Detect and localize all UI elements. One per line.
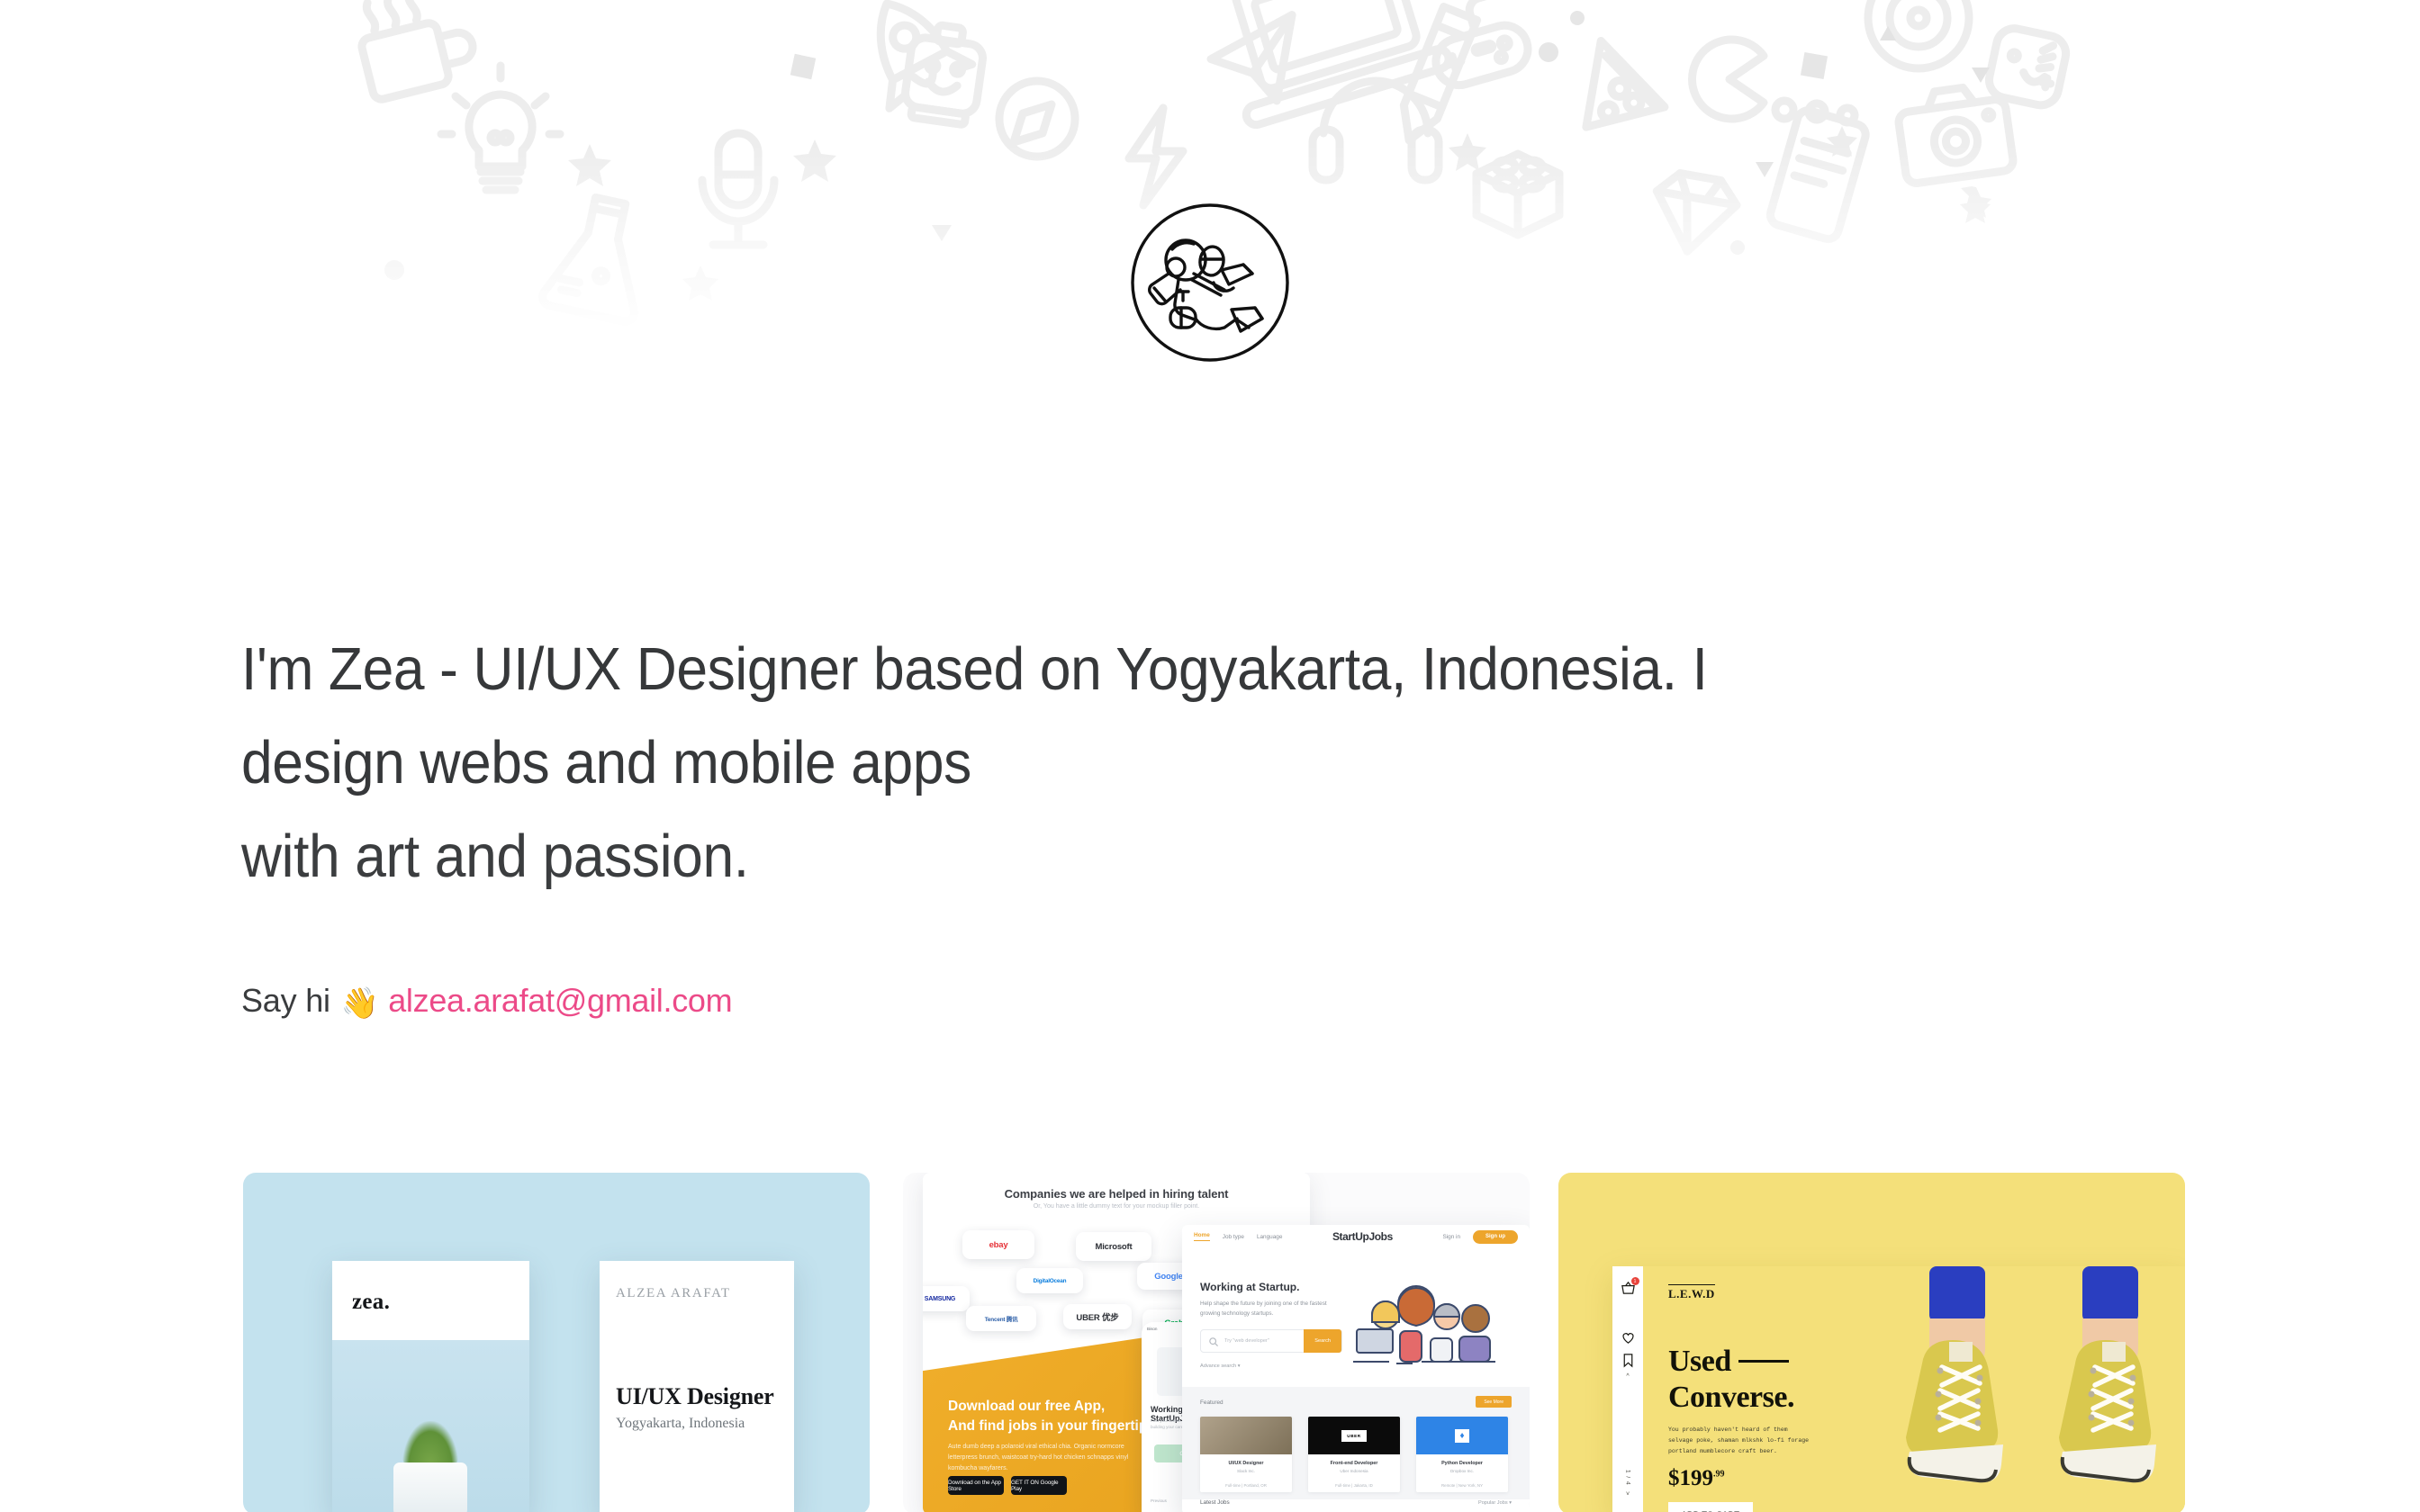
partner-logo-tencent: Tencent 腾讯 [966,1306,1036,1331]
laptop-icon [1210,0,1451,127]
promo-title-line-2: And find jobs in your fingertips! [948,1418,1160,1434]
product-title-line-1: Used [1668,1345,1731,1378]
job-thumbnail-uber: UBER [1308,1417,1400,1454]
price-main: $199 [1668,1466,1713,1490]
phone-carrier: Bison [1147,1327,1158,1333]
job-card[interactable]: UI/UX Designer Slack Inc. Full-time | Po… [1200,1417,1292,1492]
site-hero-body: Help shape the future by joining one of … [1200,1299,1344,1318]
astronaut-circle-logo[interactable] [1129,202,1291,364]
app-store-badge[interactable]: Download on the App Store [948,1476,1004,1495]
team-illustration [1344,1275,1515,1370]
job-card[interactable]: ♦ Python Developer Dropbox Inc. Remote |… [1416,1417,1508,1492]
square-icon [790,52,1828,79]
job-title: Front-end Developer [1308,1461,1400,1466]
partner-logo-microsoft: Microsoft [1076,1232,1151,1261]
work-card-startupjobs[interactable]: Companies we are helped in hiring talent… [903,1173,1530,1512]
triangle-icon [932,26,1990,241]
job-thumbnail-dropbox: ♦ [1416,1417,1508,1454]
see-more-button[interactable]: See More [1476,1396,1512,1408]
partners-title: Companies we are helped in hiring talent [923,1187,1310,1201]
promo-body: Aute dumb deep a polaroid viral ethical … [948,1442,1142,1474]
compass-icon [999,81,1075,157]
title-dash [1738,1360,1789,1363]
headline-line-2: design webs and mobile apps [241,716,2000,810]
plant-photo [332,1340,529,1512]
headline-line-1: I'm Zea - UI/UX Designer based on Yogyak… [241,623,2000,716]
popular-jobs-label: Popular Jobs [1478,1500,1508,1506]
side-rail: 1 ^ 1 / 4 ˅ [1612,1266,1643,1512]
featured-jobs-section: Featured See More UI/UX Designer Slack I… [1182,1387,1530,1499]
job-company: Uber Indonesia [1308,1469,1400,1473]
shop-brand: L.E.W.D [1668,1284,1715,1301]
product-title-line-2: Converse. [1668,1381,1794,1414]
nav-item-job-type[interactable]: Job type [1223,1234,1244,1240]
pagination-indicator: 1 / 4 [1625,1470,1631,1486]
promo-title-line-1: Download our free App, [948,1399,1105,1414]
plant-pot [393,1462,467,1512]
dot-icon [384,11,1745,280]
partner-logo-samsung: SAMSUNG [923,1286,970,1311]
contact-line: Say hi 👋 alzea.arafat@gmail.com [241,981,732,1021]
bookmark-icon[interactable] [1621,1353,1636,1368]
chevron-down-icon: ▾ [1238,1363,1241,1369]
work-card-personal-branding[interactable]: zea. ALZEA ARAFAT UI/UX Designer Yogyaka… [243,1173,870,1512]
site-nav: Home Job type Language StartUpJobs Sign … [1182,1225,1530,1248]
say-hi-label: Say hi [241,981,330,1021]
rocket-icon [845,0,972,108]
page-title: I'm Zea - UI/UX Designer based on Yogyak… [241,623,2000,904]
lewd-product-page: 1 ^ 1 / 4 ˅ L.E [1612,1266,2185,1512]
pencil-icon [1393,6,1477,147]
popular-jobs-dropdown[interactable]: Popular Jobs ▾ [1478,1500,1512,1506]
microphone-icon [702,133,774,245]
partner-logo-uber: UBER 优步 [1063,1304,1132,1329]
advance-search-label: Advance search [1200,1363,1236,1369]
job-meta: Full-time | Portland, OR [1200,1483,1292,1488]
email-link[interactable]: alzea.arafat@gmail.com [388,981,732,1021]
job-meta: Remote | New York, NY [1416,1483,1508,1488]
astronaut-icon [1150,240,1262,331]
doodle-fade-right [2123,0,2420,378]
card-name: ALZEA ARAFAT [616,1286,731,1301]
card-location: Yogyakarta, Indonesia [616,1416,745,1432]
add-to-cart-button[interactable]: ADD TO CART [1668,1502,1753,1512]
work-card-lewd-shop[interactable]: 1 ^ 1 / 4 ˅ L.E [1558,1173,2185,1512]
partner-logo-ebay: ebay [962,1230,1034,1259]
job-title: UI/UX Designer [1200,1461,1292,1466]
search-button[interactable]: Search [1304,1329,1341,1353]
job-company: Dropbox Inc. [1416,1469,1508,1473]
sign-in-link[interactable]: Sign in [1442,1234,1460,1240]
camera-icon [1895,82,2014,184]
pizza-icon [1575,40,1678,148]
paper-plane-icon [1206,15,1304,109]
search-input-placeholder: Try "web developer" [1224,1338,1269,1344]
site-hero-title: Working at Startup. [1200,1281,1299,1293]
card-role: UI/UX Designer [616,1383,774,1410]
diamond-icon [1648,170,1740,258]
job-title: Python Developer [1416,1461,1508,1466]
advance-search-toggle[interactable]: Advance search ▾ [1200,1363,1241,1369]
job-thumbnail-photo [1200,1417,1292,1454]
lego-brick-icon [1476,154,1559,235]
dot-icon [1775,101,1855,122]
site-brand: StartUpJobs [1332,1230,1393,1243]
vinyl-record-icon [1868,0,1969,68]
heart-icon[interactable] [1621,1330,1636,1345]
headline-line-3: with art and passion. [241,810,2000,904]
nav-item-language[interactable]: Language [1257,1234,1282,1240]
lightning-bolt-icon [1129,108,1183,205]
monster-icon [1986,25,2070,109]
lego-head-icon [902,22,987,126]
smartphone-icon [1768,108,1868,241]
nav-item-home[interactable]: Home [1194,1232,1210,1241]
work-gallery: zea. ALZEA ARAFAT UI/UX Designer Yogyaka… [0,1173,2420,1512]
job-card[interactable]: UBER Front-end Developer Uber Indonesia … [1308,1417,1400,1492]
pager-down-arrow[interactable]: ˅ [1626,1491,1630,1498]
shopping-basket-icon[interactable]: 1 [1621,1281,1636,1296]
portfolio-page: I'm Zea - UI/UX Designer based on Yogyak… [0,0,2420,1512]
pager-up-arrow[interactable]: ^ [1626,1373,1629,1380]
job-meta: Full-time | Jakarta, ID [1308,1483,1400,1488]
promo-title: Download our free App, And find jobs in … [948,1397,1173,1436]
product-price: $199.99 [1668,1466,1725,1491]
coffee-mug-icon [352,0,481,101]
lightbulb-icon [441,66,560,190]
partners-subtitle: Or, You have a little dummy text for you… [923,1203,1310,1210]
pacman-icon [1693,40,1764,119]
latest-jobs-label: Latest Jobs [1200,1499,1230,1506]
flask-icon [541,191,656,323]
featured-label: Featured [1200,1399,1224,1406]
waving-hand-icon: 👋 [341,984,379,1023]
sign-up-button[interactable]: Sign up [1473,1230,1518,1244]
product-description: You probably haven't heard of them selva… [1668,1425,1814,1457]
product-title: Used Converse. [1668,1344,1884,1416]
business-card-front: zea. [332,1261,529,1512]
cart-badge: 1 [1631,1277,1639,1285]
google-play-badge[interactable]: GET IT ON Google Play [1011,1476,1067,1495]
partner-logo-digitalocean: DigitalOcean [1016,1268,1083,1293]
search-icon [1209,1337,1218,1346]
converse-shoes-photo [1865,1266,2185,1512]
startupjobs-website-mockup: Home Job type Language StartUpJobs Sign … [1182,1225,1530,1512]
headphones-icon [1313,81,1439,180]
job-company: Slack Inc. [1200,1469,1292,1473]
plant-leaf [402,1421,458,1468]
zea-logo-text: zea. [352,1290,390,1315]
price-cents: .99 [1713,1470,1725,1480]
phone-prev[interactable]: Previous [1151,1498,1167,1506]
gamepad-icon [1422,0,1533,91]
job-search-bar[interactable]: Try "web developer" Search [1200,1329,1342,1353]
chevron-down-icon: ▾ [1509,1500,1512,1506]
doodle-fade-left [0,0,342,378]
business-card-back: ALZEA ARAFAT UI/UX Designer Yogyakarta, … [600,1261,794,1512]
